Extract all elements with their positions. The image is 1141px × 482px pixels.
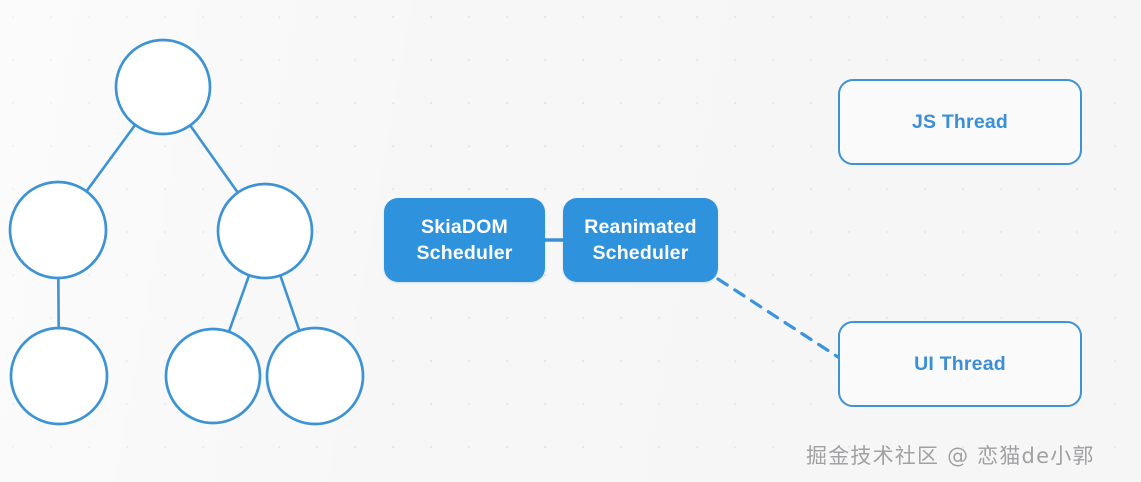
diagram-canvas: SkiaDOM Scheduler Reanimated Scheduler J…: [0, 0, 1141, 482]
skiadom-scheduler-box[interactable]: SkiaDOM Scheduler: [384, 198, 545, 282]
skiadom-scheduler-label: SkiaDOM Scheduler: [408, 214, 520, 267]
ui-thread-dashed-link: [718, 279, 838, 357]
ui-thread-label: UI Thread: [914, 353, 1006, 376]
ui-thread-box[interactable]: UI Thread: [838, 321, 1082, 407]
reanimated-scheduler-box[interactable]: Reanimated Scheduler: [563, 198, 718, 282]
js-thread-label: JS Thread: [912, 111, 1008, 134]
reanimated-scheduler-label: Reanimated Scheduler: [576, 214, 705, 267]
watermark-text: 掘金技术社区 @ 恋猫de小郭: [806, 440, 1095, 470]
js-thread-box[interactable]: JS Thread: [838, 79, 1082, 165]
